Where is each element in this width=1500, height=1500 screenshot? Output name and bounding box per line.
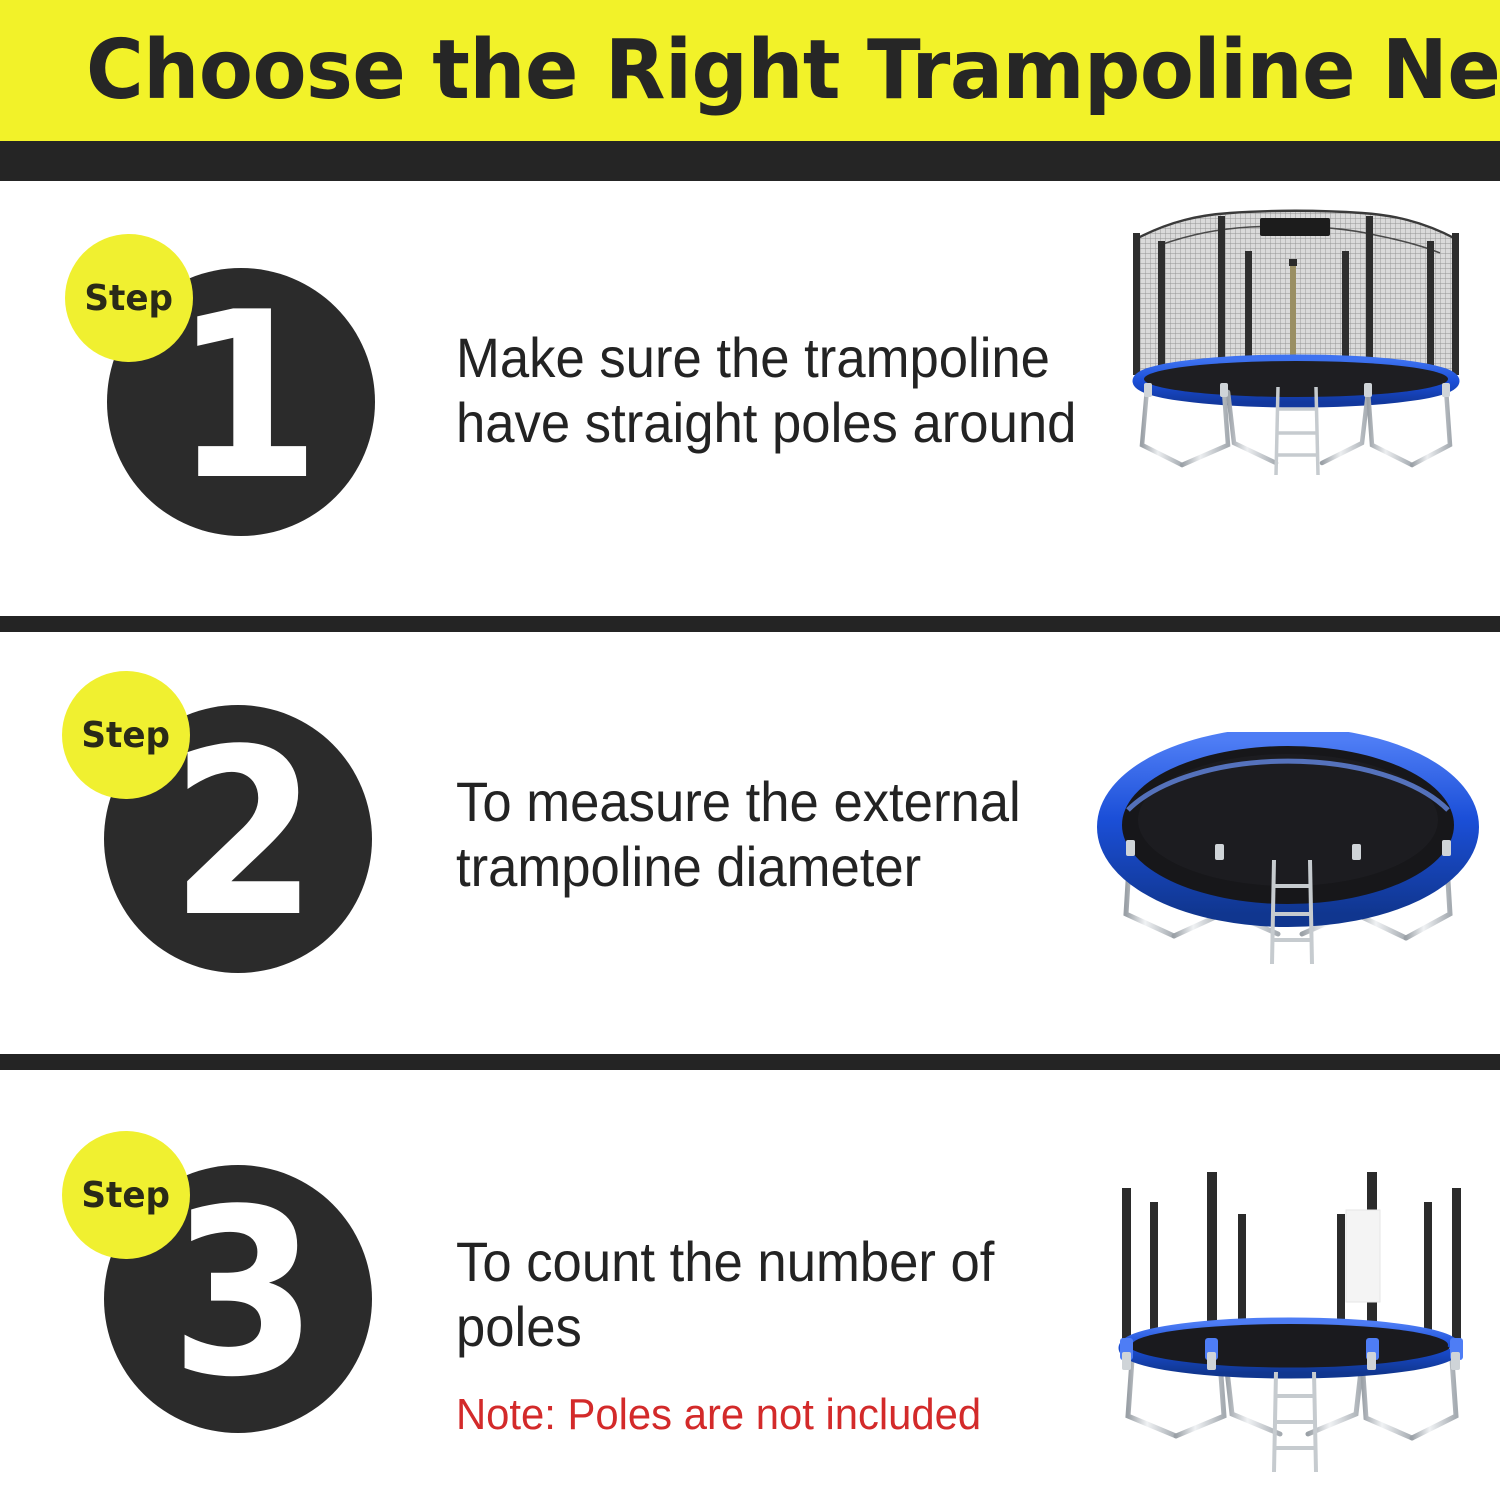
step-word-label: Step <box>82 1175 171 1216</box>
step-row-3: 3 Step To count the number of poles Note… <box>0 1070 1500 1500</box>
step-text-line: To count the number of <box>456 1230 1039 1295</box>
section-divider-2 <box>0 1054 1500 1070</box>
page-title: Choose the Right Trampoline Net <box>86 32 1500 110</box>
trampoline-with-bare-poles-image <box>1090 1160 1492 1490</box>
trampoline-without-net-image <box>1088 732 1488 1022</box>
step-word-label: Step <box>82 715 171 756</box>
step-text-2: To measure the external trampoline diame… <box>456 770 1076 900</box>
step-number-circle: 3 Step <box>104 1165 372 1433</box>
step-text-line: poles <box>456 1295 1039 1360</box>
step-word-bubble: Step <box>62 671 190 799</box>
header-band: Choose the Right Trampoline Net <box>0 0 1500 141</box>
step-text-line: To measure the external <box>456 770 1039 835</box>
step-badge-1: 1 Step <box>107 268 375 536</box>
step-word-bubble: Step <box>62 1131 190 1259</box>
step-row-2: 2 Step To measure the external trampolin… <box>0 632 1500 1054</box>
header-rule <box>0 141 1500 181</box>
step-number-label: 3 <box>170 1180 317 1410</box>
trampoline-with-enclosure-net-image <box>1100 193 1492 493</box>
step-word-bubble: Step <box>65 234 193 362</box>
step-number-label: 2 <box>170 720 317 950</box>
step-note: Note: Poles are not included <box>456 1390 1045 1441</box>
step-text-line: have straight poles around <box>456 391 1039 456</box>
step-number-label: 1 <box>173 283 320 513</box>
step-text-3: To count the number of poles Note: Poles… <box>456 1230 1076 1441</box>
section-divider-1 <box>0 616 1500 632</box>
step-row-1: 1 Step Make sure the trampoline have str… <box>0 181 1500 616</box>
step-badge-3: 3 Step <box>104 1165 372 1433</box>
step-text-line: trampoline diameter <box>456 835 1039 900</box>
step-number-circle: 2 Step <box>104 705 372 973</box>
step-number-circle: 1 Step <box>107 268 375 536</box>
step-badge-2: 2 Step <box>104 705 372 973</box>
step-word-label: Step <box>85 278 174 319</box>
step-text-1: Make sure the trampoline have straight p… <box>456 326 1076 456</box>
step-text-line: Make sure the trampoline <box>456 326 1039 391</box>
infographic-page: Choose the Right Trampoline Net 1 Step M… <box>0 0 1500 1500</box>
